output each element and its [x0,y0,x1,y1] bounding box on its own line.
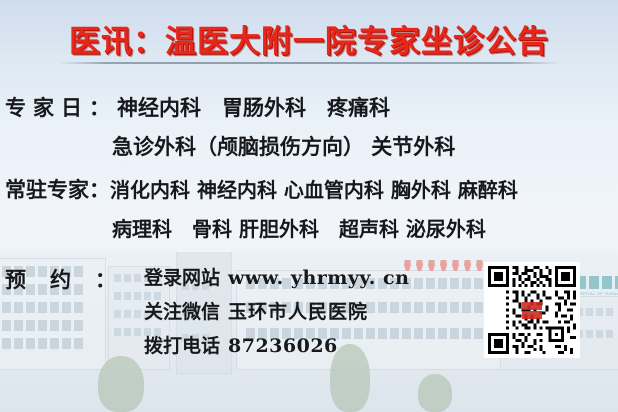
tree [418,374,452,412]
appointment-phone-value[interactable]: 87236026 [228,335,338,357]
expert-day-line-2: 急诊外科（颅脑损伤方向） 关节外科 [112,131,455,161]
appointment-label: 预约： [5,263,140,294]
expert-info-block: 专家日： 神经内科 胃肠外科 疼痛科 急诊外科（颅脑损伤方向） 关节外科 常驻专… [0,92,618,242]
expert-day-row-2: 急诊外科（颅脑损伤方向） 关节外科 [0,131,618,161]
qr-center-logo-icon [519,299,545,321]
expert-day-row-1: 专家日： 神经内科 胃肠外科 疼痛科 [0,92,618,122]
appointment-phone-key: 拨打电话 [144,331,220,358]
page-title: 医讯：温医大附一院专家坐诊公告 [0,16,618,61]
qr-code-panel [484,262,580,358]
resident-experts-row-1: 常驻专家： 消化内科 神经内科 心血管内科 胸外科 麻醉科 [0,174,618,204]
wechat-qr-code[interactable] [488,266,576,354]
resident-experts-label: 常驻专家： [5,174,110,204]
expert-day-label: 专家日： [5,92,117,122]
resident-experts-line-1: 消化内科 神经内科 心血管内科 胸外科 麻醉科 [110,174,518,203]
expert-day-line-1: 神经内科 胃肠外科 疼痛科 [117,92,390,122]
appointment-wechat-value: 玉环市人民医院 [228,297,368,324]
tree [98,356,144,412]
resident-experts-row-2: 病理科 骨科 肝胆外科 超声科 泌尿外科 [0,213,618,242]
appointment-website-value[interactable]: www. yhrmyy. cn [228,267,409,289]
appointment-wechat-key: 关注微信 [144,297,220,324]
appointment-wechat: 关注微信 玉环市人民医院 [144,297,409,324]
appointment-phone: 拨打电话 87236026 [144,331,409,358]
resident-experts-line-2: 病理科 骨科 肝胆外科 超声科 泌尿外科 [112,213,486,242]
appointment-website: 登录网站 www. yhrmyy. cn [144,263,409,290]
announcement-poster: THE PEOPLE'S HOSPITAL OF YUHUAN 医讯：温医大附一… [0,0,618,412]
appointment-website-key: 登录网站 [144,263,220,290]
appointment-lines: 登录网站 www. yhrmyy. cn 关注微信 玉环市人民医院 拨打电话 8… [140,263,409,358]
title-divider [58,62,561,64]
